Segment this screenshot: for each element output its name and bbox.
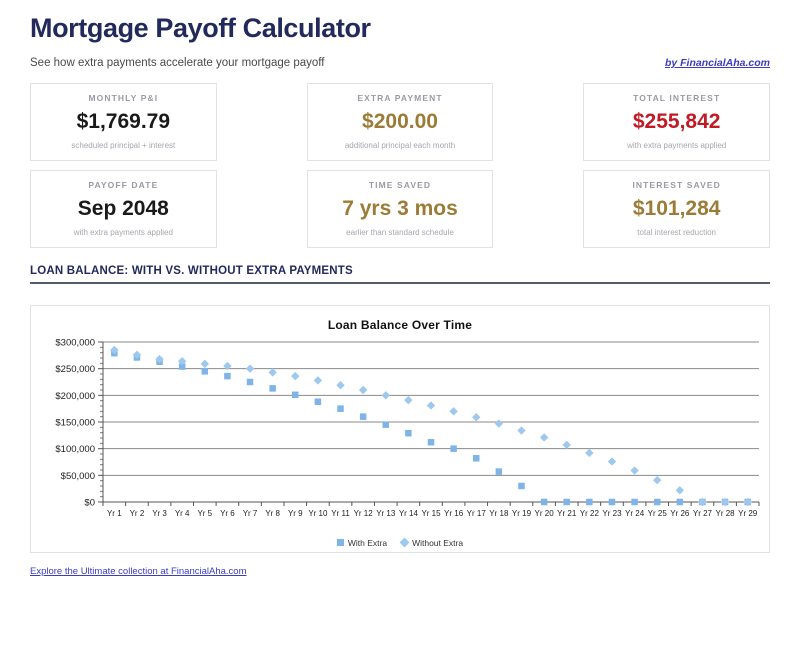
data-point-square	[428, 439, 435, 446]
x-axis-tick-label: Yr 14	[399, 509, 419, 518]
x-axis-tick-label: Yr 4	[175, 509, 190, 518]
stat-card-label: MONTHLY P&I	[37, 93, 210, 103]
data-point-diamond	[676, 486, 684, 494]
x-axis-tick-label: Yr 29	[738, 509, 758, 518]
section-divider	[30, 282, 770, 284]
stat-card-value: $101,284	[590, 197, 763, 221]
loan-balance-scatter-chart: $0$50,000$100,000$150,000$200,000$250,00…	[31, 306, 769, 554]
data-point-diamond	[291, 372, 299, 380]
stat-card-label: TOTAL INTEREST	[590, 93, 763, 103]
x-axis-tick-label: Yr 2	[130, 509, 145, 518]
data-point-diamond	[359, 386, 367, 394]
legend-item[interactable]: Without Extra	[401, 538, 463, 548]
data-point-diamond	[495, 419, 503, 427]
data-point-square	[518, 483, 525, 490]
stat-card-label: EXTRA PAYMENT	[314, 93, 487, 103]
data-point-square	[473, 455, 480, 462]
stat-card-value: Sep 2048	[37, 197, 210, 221]
x-axis-tick-label: Yr 20	[535, 509, 555, 518]
data-point-diamond	[585, 449, 593, 457]
data-point-diamond	[268, 368, 276, 376]
data-point-square	[496, 468, 503, 475]
data-point-diamond	[472, 413, 480, 421]
stat-card: TIME SAVED7 yrs 3 mosearlier than standa…	[307, 170, 494, 248]
data-point-square	[292, 392, 299, 399]
y-axis-tick-label: $200,000	[55, 391, 95, 402]
data-point-diamond	[314, 376, 322, 384]
y-axis-tick-label: $50,000	[61, 471, 95, 482]
y-axis-tick-label: $250,000	[55, 364, 95, 375]
stat-card-value: $255,842	[590, 110, 763, 134]
data-point-square	[563, 499, 570, 506]
x-axis-tick-label: Yr 6	[220, 509, 235, 518]
stat-card-label: INTEREST SAVED	[590, 180, 763, 190]
stat-card-value: $200.00	[314, 110, 487, 134]
x-axis-tick-label: Yr 13	[376, 509, 396, 518]
stat-card-note: total interest reduction	[590, 228, 763, 237]
data-point-square	[337, 405, 344, 412]
data-point-diamond	[449, 407, 457, 415]
legend-label: With Extra	[348, 538, 387, 548]
legend-square-icon	[337, 539, 344, 546]
data-point-diamond	[608, 457, 616, 465]
data-point-diamond	[540, 433, 548, 441]
data-point-diamond	[517, 426, 525, 434]
data-point-square	[450, 445, 457, 452]
x-axis-tick-label: Yr 8	[265, 509, 280, 518]
data-point-diamond	[563, 441, 571, 449]
chart-plot-area: $0$50,000$100,000$150,000$200,000$250,00…	[31, 306, 769, 552]
data-point-diamond	[404, 396, 412, 404]
stat-card-note: scheduled principal + interest	[37, 141, 210, 150]
data-point-square	[383, 421, 390, 428]
data-point-square	[541, 499, 548, 506]
stat-card-value: 7 yrs 3 mos	[314, 197, 487, 221]
data-point-square	[609, 499, 616, 506]
data-point-square	[360, 413, 367, 420]
stat-card: TOTAL INTEREST$255,842with extra payment…	[583, 83, 770, 161]
y-axis-tick-label: $0	[84, 497, 95, 508]
stat-card-note: with extra payments applied	[590, 141, 763, 150]
x-axis-tick-label: Yr 24	[625, 509, 645, 518]
stat-card: EXTRA PAYMENT$200.00additional principal…	[307, 83, 494, 161]
x-axis-tick-label: Yr 17	[467, 509, 487, 518]
y-axis-tick-label: $150,000	[55, 417, 95, 428]
data-point-diamond	[630, 466, 638, 474]
data-point-square	[202, 368, 209, 374]
footer-promo-link[interactable]: Explore the Ultimate collection at Finan…	[30, 566, 247, 577]
page-subtitle: See how extra payments accelerate your m…	[30, 57, 324, 69]
stat-card-note: additional principal each month	[314, 141, 487, 150]
legend-diamond-icon	[400, 538, 410, 548]
stat-card: PAYOFF DATESep 2048with extra payments a…	[30, 170, 217, 248]
stat-card-label: PAYOFF DATE	[37, 180, 210, 190]
x-axis-tick-label: Yr 3	[152, 509, 167, 518]
legend-item[interactable]: With Extra	[337, 538, 387, 548]
data-point-square	[631, 499, 638, 506]
data-point-square	[247, 379, 254, 386]
x-axis-tick-label: Yr 1	[107, 509, 122, 518]
x-axis-tick-label: Yr 19	[512, 509, 532, 518]
stat-card: MONTHLY P&I$1,769.79scheduled principal …	[30, 83, 217, 161]
x-axis-tick-label: Yr 27	[693, 509, 713, 518]
x-axis-tick-label: Yr 7	[243, 509, 258, 518]
stat-card-grid: MONTHLY P&I$1,769.79scheduled principal …	[30, 83, 770, 248]
x-axis-tick-label: Yr 11	[331, 509, 350, 518]
chart-panel: Loan Balance Over Time $0$50,000$100,000…	[30, 305, 770, 553]
stat-card-note: with extra payments applied	[37, 228, 210, 237]
x-axis-tick-label: Yr 23	[602, 509, 622, 518]
footer: Explore the Ultimate collection at Finan…	[30, 561, 770, 579]
subtitle-row: See how extra payments accelerate your m…	[30, 57, 770, 69]
data-point-square	[586, 499, 593, 506]
stat-card-value: $1,769.79	[37, 110, 210, 134]
data-point-diamond	[653, 476, 661, 484]
data-point-diamond	[201, 360, 209, 368]
x-axis-tick-label: Yr 9	[288, 509, 303, 518]
x-axis-tick-label: Yr 28	[716, 509, 736, 518]
x-axis-tick-label: Yr 22	[580, 509, 600, 518]
x-axis-tick-label: Yr 15	[421, 509, 441, 518]
page-title: Mortgage Payoff Calculator	[30, 14, 770, 44]
x-axis-tick-label: Yr 12	[354, 509, 374, 518]
data-point-diamond	[382, 391, 390, 399]
data-point-square	[677, 499, 684, 506]
x-axis-tick-label: Yr 25	[648, 509, 668, 518]
data-point-square	[654, 499, 661, 506]
stat-card-note: earlier than standard schedule	[314, 228, 487, 237]
section-loan-balance: LOAN BALANCE: WITH VS. WITHOUT EXTRA PAY…	[30, 265, 770, 284]
x-axis-tick-label: Yr 10	[308, 509, 328, 518]
legend-label: Without Extra	[412, 538, 463, 548]
data-point-diamond	[427, 401, 435, 409]
data-point-square	[405, 430, 412, 437]
x-axis-tick-label: Yr 26	[670, 509, 690, 518]
stat-card-label: TIME SAVED	[314, 180, 487, 190]
data-point-diamond	[336, 381, 344, 389]
section-heading: LOAN BALANCE: WITH VS. WITHOUT EXTRA PAY…	[30, 265, 770, 282]
y-axis-tick-label: $100,000	[55, 444, 95, 455]
stat-card: INTEREST SAVED$101,284total interest red…	[583, 170, 770, 248]
data-point-diamond	[246, 364, 254, 372]
brand-link[interactable]: by FinancialAha.com	[665, 57, 770, 69]
page-root: Mortgage Payoff Calculator See how extra…	[0, 14, 800, 579]
data-point-square	[224, 373, 231, 380]
x-axis-tick-label: Yr 21	[557, 509, 577, 518]
x-axis-tick-label: Yr 5	[197, 509, 212, 518]
chart-legend: With ExtraWithout Extra	[31, 538, 769, 548]
x-axis-tick-label: Yr 16	[444, 509, 464, 518]
y-axis-tick-label: $300,000	[55, 337, 95, 348]
x-axis-tick-label: Yr 18	[489, 509, 509, 518]
data-point-square	[269, 385, 276, 392]
data-point-square	[315, 398, 322, 405]
